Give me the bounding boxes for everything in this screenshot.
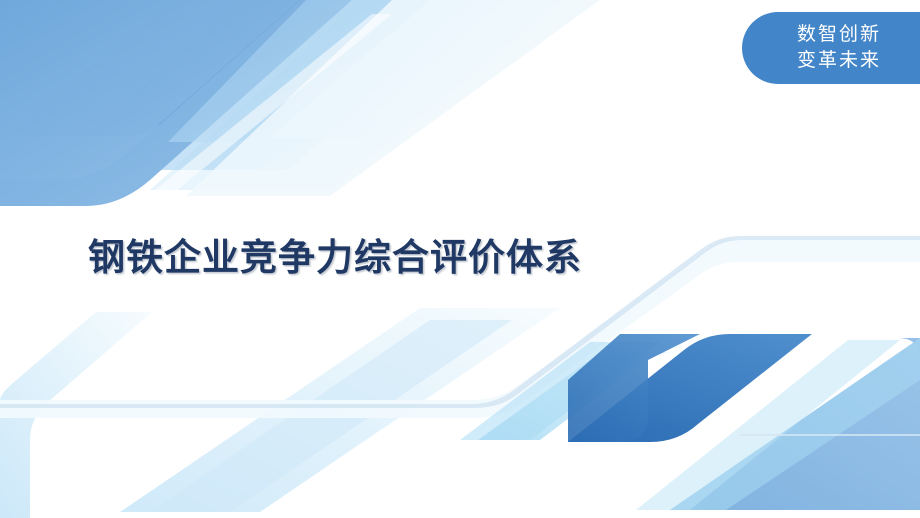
deco-top-base-block: [0, 0, 352, 206]
deco-bottom-left-blade-inner: [150, 320, 512, 512]
presentation-slide: 数智创新 变革未来 钢铁企业竞争力综合评价体系: [0, 0, 920, 518]
deco-bottom-right-core-round: [568, 334, 700, 442]
deco-top-faint-sliver: [368, 0, 560, 118]
deco-top-backdrop: [186, 0, 600, 196]
deco-top-pale-band: [150, 0, 560, 190]
deco-top-deep-stripe: [62, 0, 300, 136]
deco-bottom-right-cyan-edge: [670, 338, 920, 510]
deco-bottom-right-cyan-edge2: [636, 340, 900, 510]
page-title: 钢铁企业竞争力综合评价体系: [88, 232, 788, 284]
deco-hairline-right: [740, 434, 920, 436]
deco-bottom-right-sliver: [478, 352, 676, 440]
deco-top-mid-stripe: [4, 0, 240, 136]
tagline-badge: 数智创新 变革未来: [742, 12, 920, 84]
deco-top-main-shape: [0, 0, 300, 180]
title-block: 钢铁企业竞争力综合评价体系: [88, 232, 788, 284]
deco-bottom-right-triangle: [670, 338, 920, 510]
deco-bottom-right-sliver2: [460, 342, 660, 440]
deco-bottom-right-core: [568, 334, 812, 442]
deco-top-right-sweep: [168, 0, 408, 142]
tagline-line-1: 数智创新: [797, 22, 881, 48]
deco-top-pale-wedge: [270, 0, 520, 138]
deco-top-soft-edge: [0, 14, 392, 219]
deco-bottom-right-triangle-round: [898, 338, 920, 360]
deco-bottom-left-blade: [120, 308, 560, 512]
tagline-line-2: 变革未来: [797, 48, 881, 74]
deco-top-light-band: [150, 0, 470, 170]
deco-bottom-left-arrow: [0, 312, 152, 518]
